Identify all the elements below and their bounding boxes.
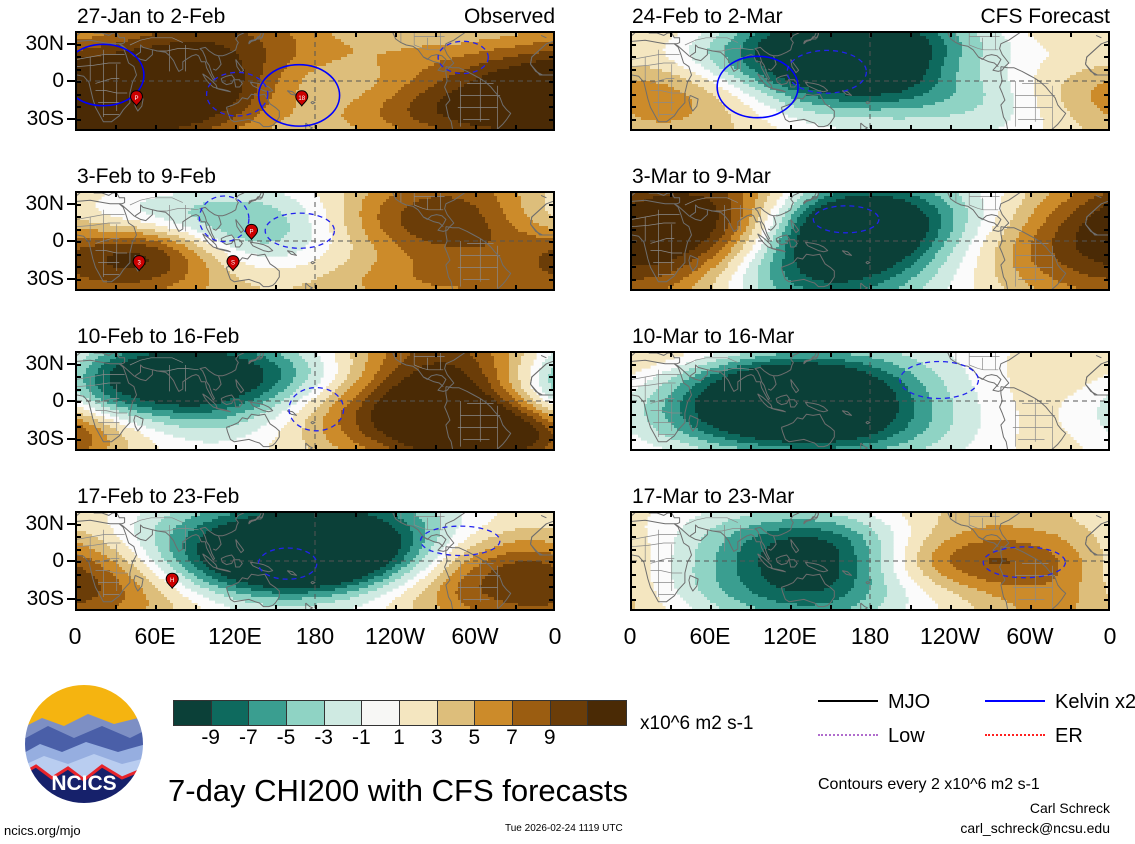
y-ticklabel-30N: 30N <box>0 193 64 214</box>
x-tick <box>195 351 197 357</box>
x-tick <box>710 351 712 357</box>
y-ticklabel-30S: 30S <box>0 428 64 449</box>
y-tick <box>630 81 636 83</box>
x-tick <box>990 445 992 451</box>
x-tick <box>155 511 157 517</box>
y-tick <box>549 69 555 71</box>
x-tick <box>475 445 477 451</box>
x-tick <box>515 31 517 37</box>
x-tick <box>830 445 832 451</box>
y-tick <box>1104 229 1110 231</box>
y-tick-outer <box>67 43 75 45</box>
y-tick <box>1104 376 1110 378</box>
x-tick <box>235 511 237 517</box>
y-tick <box>549 549 555 551</box>
x-tick <box>1070 191 1072 197</box>
x-tick <box>830 511 832 517</box>
y-tick <box>75 94 81 96</box>
y-tick <box>1104 254 1110 256</box>
y-tick-outer <box>67 598 75 600</box>
storm-marker-label: H <box>170 578 174 584</box>
x-tick <box>910 191 912 197</box>
legend-label-kelvin-x2: Kelvin x2 <box>1055 692 1135 712</box>
y-tick <box>549 599 555 601</box>
x-ticklabel-60E: 60E <box>665 625 755 648</box>
legend-swatch-er <box>985 734 1045 736</box>
x-ticklabel-180: 180 <box>270 625 360 648</box>
x-tick <box>790 31 792 37</box>
x-tick <box>195 31 197 37</box>
panel-title: 27-Jan to 2-Feb <box>77 6 225 27</box>
x-tick <box>235 445 237 451</box>
y-tick <box>75 364 81 366</box>
x-tick <box>990 351 992 357</box>
map-panel: P18 <box>75 31 555 131</box>
x-tick <box>910 125 912 131</box>
x-tick <box>710 191 712 197</box>
x-tick <box>355 125 357 131</box>
y-tick <box>1104 439 1110 441</box>
y-tick <box>1104 119 1110 121</box>
x-tick <box>515 285 517 291</box>
x-tick <box>1030 445 1032 451</box>
x-tick <box>870 511 872 517</box>
x-tick <box>670 125 672 131</box>
x-tick <box>950 125 952 131</box>
panel-title: 10-Feb to 16-Feb <box>77 326 239 347</box>
x-tick <box>155 285 157 291</box>
x-tick <box>830 31 832 37</box>
x-tick <box>235 125 237 131</box>
y-ticklabel-0: 0 <box>0 550 64 571</box>
x-tick <box>910 285 912 291</box>
legend-label-low: Low <box>888 726 925 746</box>
y-tick <box>1104 414 1110 416</box>
x-tick <box>1030 285 1032 291</box>
y-tick-outer <box>67 400 75 402</box>
y-tick <box>549 241 555 243</box>
y-tick <box>1104 561 1110 563</box>
y-tick <box>630 561 636 563</box>
x-tick <box>990 31 992 37</box>
y-tick <box>549 254 555 256</box>
x-tick <box>710 445 712 451</box>
y-tick <box>75 44 81 46</box>
x-tick <box>870 285 872 291</box>
y-tick <box>630 524 636 526</box>
colorbar-tick-9: 9 <box>525 727 575 748</box>
x-tick <box>750 31 752 37</box>
colorbar-cell-4 <box>325 701 363 725</box>
x-tick <box>670 285 672 291</box>
y-tick <box>549 364 555 366</box>
x-ticklabel-0: 0 <box>30 625 120 648</box>
y-tick <box>630 204 636 206</box>
x-tick <box>395 351 397 357</box>
x-tick <box>115 351 117 357</box>
y-tick <box>549 389 555 391</box>
y-tick <box>549 414 555 416</box>
y-tick <box>549 44 555 46</box>
ncics-logo-text: NCICS <box>51 772 116 795</box>
x-tick <box>395 445 397 451</box>
x-ticklabel-60W: 60W <box>430 625 520 648</box>
x-tick <box>790 605 792 611</box>
panel-title: 17-Feb to 23-Feb <box>77 486 239 507</box>
author-email: carl_schreck@ncsu.edu <box>880 820 1110 836</box>
x-tick <box>710 511 712 517</box>
storm-marker-label: P <box>250 229 254 235</box>
map-field-svg: H <box>77 513 553 609</box>
y-tick <box>75 574 81 576</box>
x-tick <box>475 351 477 357</box>
x-tick <box>515 125 517 131</box>
x-tick <box>275 191 277 197</box>
x-ticklabel-60E: 60E <box>110 625 200 648</box>
x-tick <box>115 125 117 131</box>
colorbar-unit-label: x10^6 m2 s-1 <box>640 714 753 733</box>
map-panel: H <box>75 511 555 611</box>
y-tick <box>630 229 636 231</box>
y-tick <box>630 94 636 96</box>
x-tick <box>950 605 952 611</box>
y-tick <box>1104 586 1110 588</box>
ncics-logo: NCICS <box>22 682 146 806</box>
x-tick <box>670 31 672 37</box>
x-tick <box>870 31 872 37</box>
x-tick <box>195 445 197 451</box>
y-tick <box>549 524 555 526</box>
x-tick <box>315 191 317 197</box>
x-tick <box>475 125 477 131</box>
y-tick <box>630 106 636 108</box>
legend-label-mjo: MJO <box>888 692 930 712</box>
x-tick <box>950 445 952 451</box>
x-ticklabel-0: 0 <box>585 625 675 648</box>
colorbar-cell-7 <box>438 701 476 725</box>
y-tick <box>630 426 636 428</box>
x-tick <box>1070 285 1072 291</box>
x-tick <box>435 285 437 291</box>
x-tick <box>710 605 712 611</box>
colorbar-cell-6 <box>400 701 438 725</box>
x-tick <box>515 191 517 197</box>
x-tick <box>790 351 792 357</box>
x-tick <box>750 125 752 131</box>
y-tick <box>549 376 555 378</box>
y-tick <box>549 561 555 563</box>
x-tick <box>1030 351 1032 357</box>
y-tick <box>1104 106 1110 108</box>
panel-title: 3-Feb to 9-Feb <box>77 166 216 187</box>
y-tick-outer <box>67 203 75 205</box>
x-tick <box>355 285 357 291</box>
y-tick <box>549 439 555 441</box>
x-tick <box>1070 31 1072 37</box>
y-tick-outer <box>67 438 75 440</box>
x-tick <box>1070 445 1072 451</box>
x-tick <box>1070 351 1072 357</box>
y-tick <box>75 216 81 218</box>
y-tick <box>75 414 81 416</box>
x-tick <box>910 351 912 357</box>
x-ticklabel-120W: 120W <box>350 625 440 648</box>
y-tick <box>630 56 636 58</box>
x-ticklabel-180: 180 <box>825 625 915 648</box>
y-tick <box>1104 241 1110 243</box>
x-tick <box>435 605 437 611</box>
x-tick <box>435 125 437 131</box>
x-tick <box>115 191 117 197</box>
y-tick <box>1104 364 1110 366</box>
x-tick <box>475 31 477 37</box>
y-tick <box>1104 599 1110 601</box>
colorbar-cell-8 <box>475 701 513 725</box>
y-tick <box>75 401 81 403</box>
y-tick <box>630 389 636 391</box>
y-ticklabel-30N: 30N <box>0 513 64 534</box>
y-tick <box>75 536 81 538</box>
x-tick <box>910 605 912 611</box>
contour-interval-note: Contours every 2 x10^6 m2 s-1 <box>818 777 1040 793</box>
x-tick <box>435 351 437 357</box>
x-tick <box>950 351 952 357</box>
x-tick <box>1030 125 1032 131</box>
x-tick <box>870 351 872 357</box>
x-tick <box>670 191 672 197</box>
x-tick <box>830 285 832 291</box>
map-panel: P3S <box>75 191 555 291</box>
y-tick <box>1104 389 1110 391</box>
x-tick <box>395 191 397 197</box>
y-tick <box>1104 69 1110 71</box>
x-tick <box>990 605 992 611</box>
y-tick <box>630 216 636 218</box>
map-field-svg <box>632 513 1108 609</box>
colorbar-cell-5 <box>362 701 400 725</box>
legend-swatch-mjo <box>818 700 878 702</box>
y-tick <box>549 81 555 83</box>
y-ticklabel-30S: 30S <box>0 108 64 129</box>
x-tick <box>355 191 357 197</box>
y-tick <box>75 586 81 588</box>
x-tick <box>195 285 197 291</box>
x-tick <box>910 511 912 517</box>
x-tick <box>990 511 992 517</box>
x-tick <box>670 511 672 517</box>
y-tick-outer <box>67 80 75 82</box>
x-tick <box>990 125 992 131</box>
x-tick <box>990 191 992 197</box>
x-tick <box>115 445 117 451</box>
column-header-right: CFS Forecast <box>860 6 1110 27</box>
x-tick <box>870 605 872 611</box>
y-tick <box>1104 279 1110 281</box>
y-tick <box>75 56 81 58</box>
panel-title: 17-Mar to 23-Mar <box>632 486 794 507</box>
panel-title: 24-Feb to 2-Mar <box>632 6 783 27</box>
y-tick <box>630 44 636 46</box>
colorbar-cell-2 <box>249 701 287 725</box>
y-ticklabel-30S: 30S <box>0 268 64 289</box>
x-tick <box>950 191 952 197</box>
y-tick <box>75 599 81 601</box>
x-tick <box>155 31 157 37</box>
colorbar-cell-9 <box>513 701 551 725</box>
y-tick-outer <box>67 523 75 525</box>
y-tick <box>630 536 636 538</box>
y-tick <box>1104 216 1110 218</box>
y-tick <box>1104 536 1110 538</box>
site-url[interactable]: ncics.org/mjo <box>4 824 81 837</box>
x-tick <box>355 605 357 611</box>
x-tick <box>315 445 317 451</box>
y-ticklabel-30N: 30N <box>0 353 64 374</box>
y-tick <box>549 229 555 231</box>
y-tick <box>549 574 555 576</box>
x-tick <box>515 605 517 611</box>
timestamp: Tue 2026-02-24 1119 UTC <box>505 824 623 834</box>
y-tick <box>75 241 81 243</box>
page-title: 7-day CHI200 with CFS forecasts <box>168 775 628 806</box>
x-tick <box>750 191 752 197</box>
panel-title: 3-Mar to 9-Mar <box>632 166 771 187</box>
y-tick <box>75 204 81 206</box>
map-panel <box>630 511 1110 611</box>
ncics-logo-svg: NCICS <box>22 682 146 806</box>
y-tick <box>549 56 555 58</box>
x-tick <box>515 351 517 357</box>
x-tick <box>750 285 752 291</box>
map-panel <box>630 191 1110 291</box>
x-tick <box>275 445 277 451</box>
x-tick <box>155 191 157 197</box>
y-tick <box>630 376 636 378</box>
column-header-left: Observed <box>305 6 555 27</box>
map-panel <box>630 351 1110 451</box>
y-tick <box>630 414 636 416</box>
x-tick <box>355 511 357 517</box>
y-tick <box>75 389 81 391</box>
x-tick <box>990 285 992 291</box>
x-tick <box>1070 125 1072 131</box>
y-tick <box>630 586 636 588</box>
x-tick <box>115 285 117 291</box>
x-tick <box>435 445 437 451</box>
map-panel <box>630 31 1110 131</box>
x-tick <box>195 191 197 197</box>
x-tick <box>315 351 317 357</box>
x-tick <box>475 511 477 517</box>
x-tick <box>315 125 317 131</box>
y-tick <box>549 204 555 206</box>
y-tick <box>75 254 81 256</box>
x-tick <box>275 125 277 131</box>
y-tick <box>75 69 81 71</box>
x-tick <box>355 445 357 451</box>
x-tick <box>395 511 397 517</box>
colorbar-cell-11 <box>588 701 626 725</box>
y-tick <box>75 524 81 526</box>
y-tick <box>549 536 555 538</box>
y-tick-outer <box>67 363 75 365</box>
x-tick <box>195 605 197 611</box>
x-tick <box>235 605 237 611</box>
x-tick <box>790 285 792 291</box>
x-tick <box>750 445 752 451</box>
x-ticklabel-0: 0 <box>1065 625 1135 648</box>
storm-marker-label: S <box>231 261 235 267</box>
x-tick <box>155 125 157 131</box>
legend-label-er: ER <box>1055 726 1083 746</box>
x-tick <box>790 191 792 197</box>
x-tick <box>1070 511 1072 517</box>
x-ticklabel-120E: 120E <box>190 625 280 648</box>
y-tick <box>1104 56 1110 58</box>
y-tick <box>75 106 81 108</box>
y-tick-outer <box>67 560 75 562</box>
y-tick <box>75 266 81 268</box>
x-tick <box>870 445 872 451</box>
y-tick <box>75 279 81 281</box>
y-ticklabel-0: 0 <box>0 390 64 411</box>
x-tick <box>155 605 157 611</box>
colorbar <box>173 700 627 726</box>
legend-swatch-low <box>818 734 878 736</box>
x-tick <box>435 511 437 517</box>
storm-marker-label: P <box>134 96 138 102</box>
x-ticklabel-120W: 120W <box>905 625 995 648</box>
x-tick <box>315 285 317 291</box>
x-tick <box>275 285 277 291</box>
y-tick <box>630 69 636 71</box>
x-tick <box>235 191 237 197</box>
y-tick <box>1104 574 1110 576</box>
y-tick <box>630 401 636 403</box>
y-tick <box>630 279 636 281</box>
y-tick-outer <box>67 278 75 280</box>
x-tick <box>750 511 752 517</box>
x-tick <box>910 445 912 451</box>
y-tick <box>630 241 636 243</box>
x-tick <box>155 445 157 451</box>
map-field-svg <box>632 353 1108 449</box>
x-tick <box>710 31 712 37</box>
y-tick <box>630 119 636 121</box>
y-tick <box>549 426 555 428</box>
x-tick <box>275 351 277 357</box>
x-tick <box>395 285 397 291</box>
x-tick <box>710 285 712 291</box>
y-tick <box>549 401 555 403</box>
x-tick <box>115 31 117 37</box>
map-field-svg: P18 <box>77 33 553 129</box>
x-tick <box>790 445 792 451</box>
x-tick <box>1070 605 1072 611</box>
x-tick <box>115 511 117 517</box>
panel-title: 10-Mar to 16-Mar <box>632 326 794 347</box>
x-tick <box>475 191 477 197</box>
x-tick <box>910 31 912 37</box>
x-tick <box>670 351 672 357</box>
x-tick <box>830 125 832 131</box>
x-tick <box>790 125 792 131</box>
x-tick <box>315 605 317 611</box>
y-tick <box>75 549 81 551</box>
x-tick <box>710 125 712 131</box>
x-tick <box>395 125 397 131</box>
y-ticklabel-0: 0 <box>0 70 64 91</box>
